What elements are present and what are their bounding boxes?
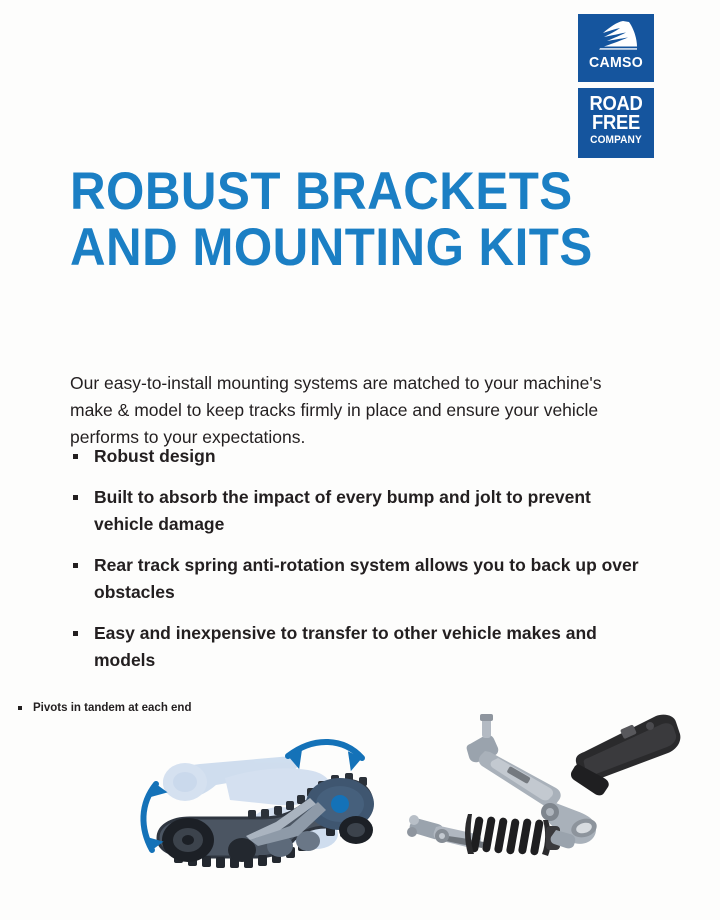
- mounting-hardware-photo: [398, 708, 698, 873]
- camso-mountain-mark: [593, 20, 639, 50]
- title-line-1: ROBUST BRACKETS: [70, 164, 572, 220]
- title-line-2: AND MOUNTING KITS: [70, 220, 572, 276]
- camso-wordmark: CAMSO: [585, 55, 647, 70]
- hardware-photo-svg: [398, 708, 698, 873]
- list-item: Easy and inexpensive to transfer to othe…: [70, 620, 640, 674]
- camso-brand-badge: CAMSO: [578, 14, 654, 82]
- track-diagram-svg: [130, 726, 390, 886]
- camso-logo-stack: CAMSO ROAD FREE COMPANY: [578, 14, 654, 158]
- poster-page: CAMSO ROAD FREE COMPANY ROBUST BRACKETS …: [0, 0, 720, 920]
- page-title: ROBUST BRACKETS AND MOUNTING KITS: [70, 164, 610, 276]
- rear-pivot-arrow: [286, 742, 365, 771]
- mid-roller: [228, 838, 256, 862]
- free-label: FREE: [586, 114, 647, 133]
- list-item: Built to absorb the impact of every bump…: [70, 484, 640, 538]
- mounting-bracket: [571, 715, 680, 796]
- spring-coil: [470, 816, 544, 856]
- company-label: COMPANY: [586, 135, 647, 146]
- intro-paragraph: Our easy-to-install mounting systems are…: [70, 370, 630, 451]
- list-item: Robust design: [70, 443, 640, 470]
- list-item: Rear track spring anti-rotation system a…: [70, 552, 640, 606]
- sprocket-hub: [331, 795, 349, 813]
- track-system-pivot-diagram: [130, 726, 390, 886]
- feature-bullet-list: Robust design Built to absorb the impact…: [70, 443, 640, 688]
- road-free-company-badge: ROAD FREE COMPANY: [578, 88, 654, 158]
- diagram-caption: Pivots in tandem at each end: [18, 701, 191, 715]
